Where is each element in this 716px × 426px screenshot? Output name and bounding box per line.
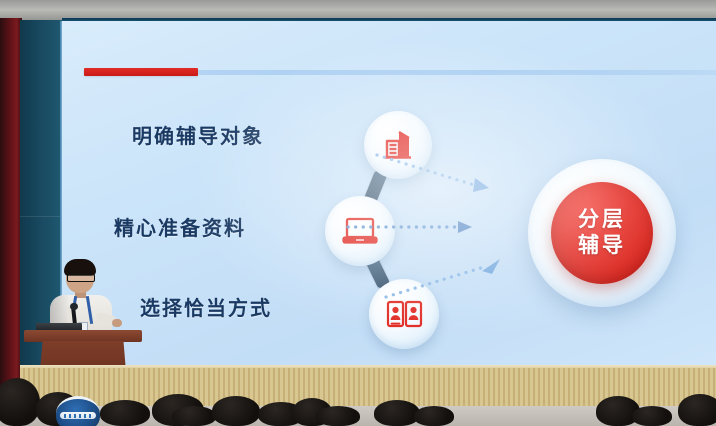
- result-circle: 分层 辅导: [551, 182, 653, 284]
- presenter-right-hand: [112, 319, 122, 327]
- slide-divider-bar: [198, 70, 716, 75]
- microphone-head: [70, 303, 78, 310]
- result-line-2: 辅导: [578, 233, 626, 259]
- cap-band-pattern: [64, 414, 92, 418]
- arrow-up-right-icon: [384, 253, 506, 305]
- result-line-1: 分层: [578, 207, 626, 233]
- projection-screen: 明确辅导对象 精心准备资料 选择恰当方式: [62, 21, 716, 372]
- screenshot-stage: 明确辅导对象 精心准备资料 选择恰当方式: [0, 0, 716, 426]
- stage-curtain: [0, 18, 22, 426]
- audience-head: [0, 378, 40, 426]
- audience-head: [414, 406, 454, 426]
- step-label-1: 明确辅导对象: [132, 120, 264, 149]
- audience-head: [632, 406, 672, 426]
- audience-head: [100, 400, 150, 426]
- audience-head: [678, 394, 716, 426]
- audience-head: [212, 396, 260, 426]
- audience-head: [172, 406, 216, 426]
- audience-cap: [56, 396, 100, 426]
- glasses-icon: [67, 274, 95, 282]
- step-label-2: 精心准备资料: [114, 212, 246, 241]
- audience-head: [316, 406, 360, 426]
- slide-accent-bar: [84, 68, 198, 76]
- step-label-3: 选择恰当方式: [140, 292, 272, 321]
- audience-head: [374, 400, 420, 426]
- podium-top: [24, 330, 142, 342]
- arrow-right-icon: [346, 217, 478, 237]
- arrow-down-right-icon: [375, 149, 495, 201]
